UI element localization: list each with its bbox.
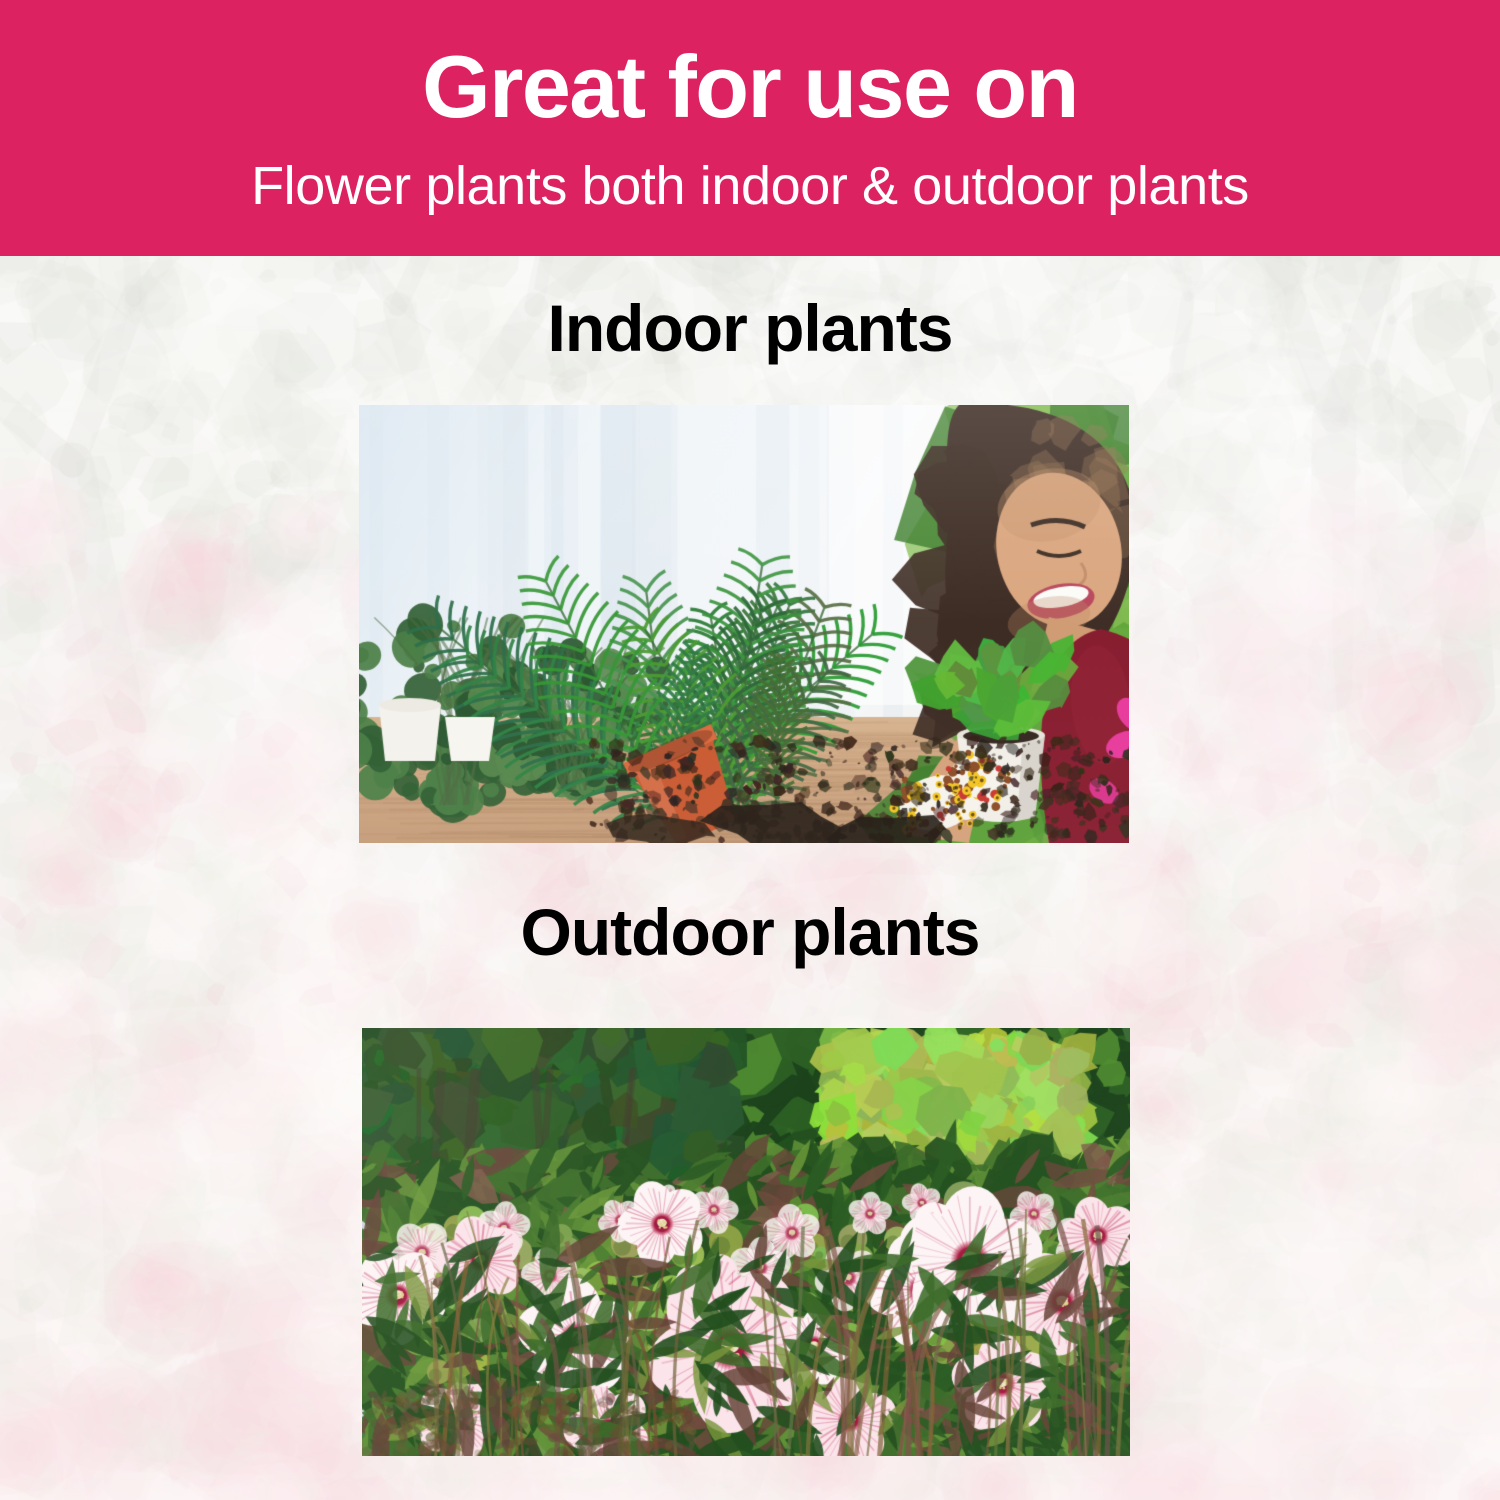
page-subtitle: Flower plants both indoor & outdoor plan… (0, 152, 1500, 220)
indoor-plants-photo (359, 405, 1129, 843)
page-title: Great for use on (0, 33, 1500, 141)
header-band: Great for use on Flower plants both indo… (0, 0, 1500, 256)
indoor-photo-canvas (359, 405, 1129, 843)
section-heading-indoor: Indoor plants (0, 288, 1500, 368)
infographic-page: Great for use on Flower plants both indo… (0, 0, 1500, 1500)
section-heading-outdoor: Outdoor plants (0, 892, 1500, 972)
outdoor-photo-canvas (362, 1028, 1130, 1456)
outdoor-plants-photo (362, 1028, 1130, 1456)
